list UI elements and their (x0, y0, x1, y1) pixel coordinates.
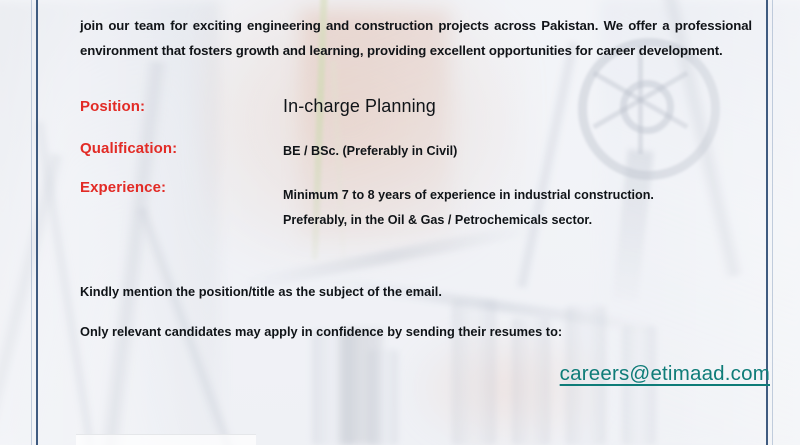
details-list: Position: In-charge Planning Qualificati… (80, 98, 770, 239)
experience-value-line-2: Preferably, in the Oil & Gas / Petrochem… (283, 208, 770, 233)
experience-label: Experience: (80, 179, 283, 196)
experience-value-line-1: Minimum 7 to 8 years of experience in in… (283, 183, 770, 208)
note-apply-line: Only relevant candidates may apply in co… (80, 312, 770, 352)
experience-value: Minimum 7 to 8 years of experience in in… (283, 183, 770, 233)
job-advertisement-flyer: join our team for exciting engineering a… (0, 0, 800, 445)
detail-row-position: Position: In-charge Planning (80, 98, 770, 140)
application-notes: Kindly mention the position/title as the… (80, 272, 770, 352)
detail-row-qualification: Qualification: BE / BSc. (Preferably in … (80, 140, 770, 179)
flyer-content: join our team for exciting engineering a… (0, 0, 800, 445)
qualification-label: Qualification: (80, 140, 283, 157)
position-value: In-charge Planning (283, 96, 770, 117)
detail-row-experience: Experience: Minimum 7 to 8 years of expe… (80, 179, 770, 239)
position-label: Position: (80, 98, 283, 115)
intro-paragraph: join our team for exciting engineering a… (80, 13, 752, 63)
qualification-value: BE / BSc. (Preferably in Civil) (283, 144, 770, 158)
note-subject-line: Kindly mention the position/title as the… (80, 272, 770, 312)
careers-email-link[interactable]: careers@etimaad.com (560, 362, 770, 385)
email-container: careers@etimaad.com (80, 362, 800, 386)
